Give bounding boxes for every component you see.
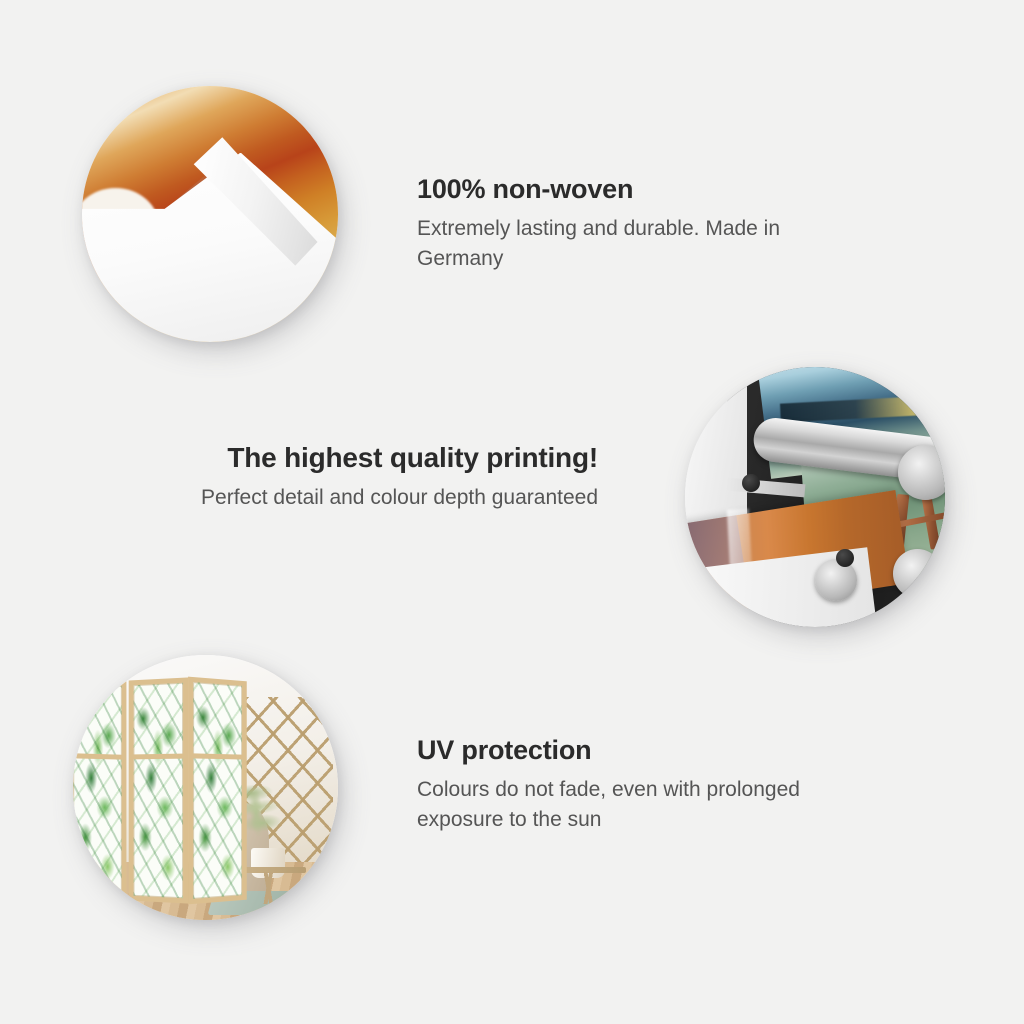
large-format-printer-photo: [685, 367, 945, 627]
feature-title-uv-protection: UV protection: [417, 735, 817, 766]
feature-description-printing: Perfect detail and colour depth guarante…: [200, 483, 598, 513]
feature-description-uv-protection: Colours do not fade, even with prolonged…: [417, 775, 817, 835]
feature-text-printing: The highest quality printing! Perfect de…: [200, 442, 598, 513]
feature-image-non-woven: [82, 86, 338, 342]
infographic-canvas: 100% non-woven Extremely lasting and dur…: [0, 0, 1024, 1024]
feature-title-printing: The highest quality printing!: [200, 442, 598, 474]
tropical-room-divider-photo: [73, 655, 338, 920]
printer-roller-cap: [815, 559, 857, 601]
feature-text-non-woven: 100% non-woven Extremely lasting and dur…: [417, 174, 857, 274]
divider-panel: [128, 677, 187, 903]
printer-roller-cap: [898, 445, 945, 500]
divider-panel: [73, 676, 126, 904]
feature-image-printing: [685, 367, 945, 627]
feature-text-uv-protection: UV protection Colours do not fade, even …: [417, 735, 817, 835]
folding-room-divider: [73, 679, 248, 902]
printer-knob: [742, 474, 760, 492]
divider-panel: [188, 676, 247, 903]
feature-title-non-woven: 100% non-woven: [417, 174, 857, 205]
printer-knob: [836, 549, 854, 567]
feature-image-uv-protection: [73, 655, 338, 920]
feature-description-non-woven: Extremely lasting and durable. Made in G…: [417, 214, 857, 274]
curled-wallpaper-corner-photo: [82, 86, 338, 342]
